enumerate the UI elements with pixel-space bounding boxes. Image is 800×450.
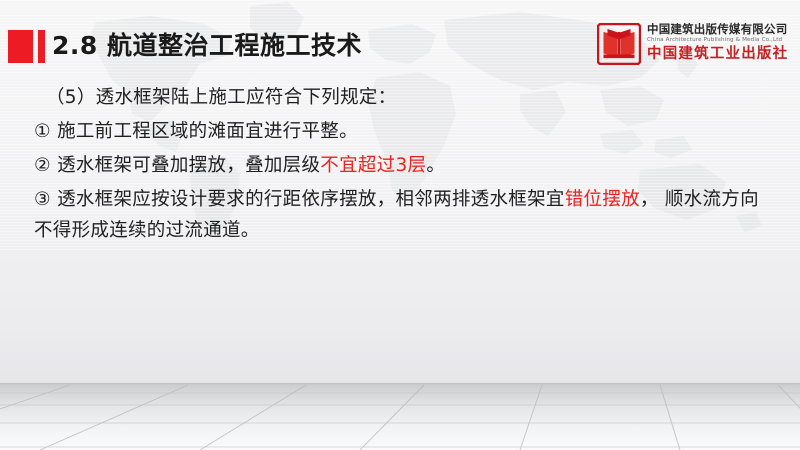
list-item-marker: ① xyxy=(34,121,51,142)
red-bar-narrow xyxy=(38,30,45,63)
floor-plane xyxy=(0,383,800,450)
slide-canvas: 2.8 航道整治工程施工技术 中国建筑出版传媒有限公司 China Archit… xyxy=(0,0,800,450)
list-item: ③ 透水框架应按设计要求的行距依序摆放，相邻两排透水框架宜错位摆放， 顺水流方向… xyxy=(34,184,774,246)
list-item-text: 透水框架应按设计要求的行距依序摆放，相邻两排透水框架宜 xyxy=(51,189,565,210)
list-item-highlight: 不宜超过3层 xyxy=(320,155,426,176)
floor-grid-lines xyxy=(0,383,800,450)
body-heading: （5）透水框架陆上施工应符合下列规定： xyxy=(34,82,774,113)
list-item-text-tail: 。 xyxy=(426,155,445,176)
publisher-logo: 中国建筑出版传媒有限公司 China Architecture Publishi… xyxy=(597,22,797,68)
open-book-emblem xyxy=(597,23,641,65)
list-item: ① 施工前工程区域的滩面宜进行平整。 xyxy=(34,116,774,147)
list-item-highlight: 错位摆放 xyxy=(565,189,640,210)
list-item-marker: ② xyxy=(34,155,51,176)
list-item-text: 施工前工程区域的滩面宜进行平整。 xyxy=(51,121,358,142)
publisher-logo-texts: 中国建筑出版传媒有限公司 China Architecture Publishi… xyxy=(647,22,797,64)
red-bar-wide xyxy=(8,30,33,63)
list-item: ② 透水框架可叠加摆放，叠加层级不宜超过3层。 xyxy=(34,150,774,181)
slide-header: 2.8 航道整治工程施工技术 中国建筑出版传媒有限公司 China Archit… xyxy=(0,0,800,78)
list-item-marker: ③ xyxy=(34,189,51,210)
slide-body: （5）透水框架陆上施工应符合下列规定： ① 施工前工程区域的滩面宜进行平整。 ②… xyxy=(34,82,774,246)
publisher-company-en: China Architecture Publishing & Media Co… xyxy=(647,36,797,44)
publisher-press-cn: 中国建筑工业出版社 xyxy=(647,45,797,64)
list-item-text: 透水框架可叠加摆放，叠加层级 xyxy=(51,155,320,176)
page-title: 2.8 航道整治工程施工技术 xyxy=(52,29,362,63)
publisher-company-cn: 中国建筑出版传媒有限公司 xyxy=(647,22,797,36)
